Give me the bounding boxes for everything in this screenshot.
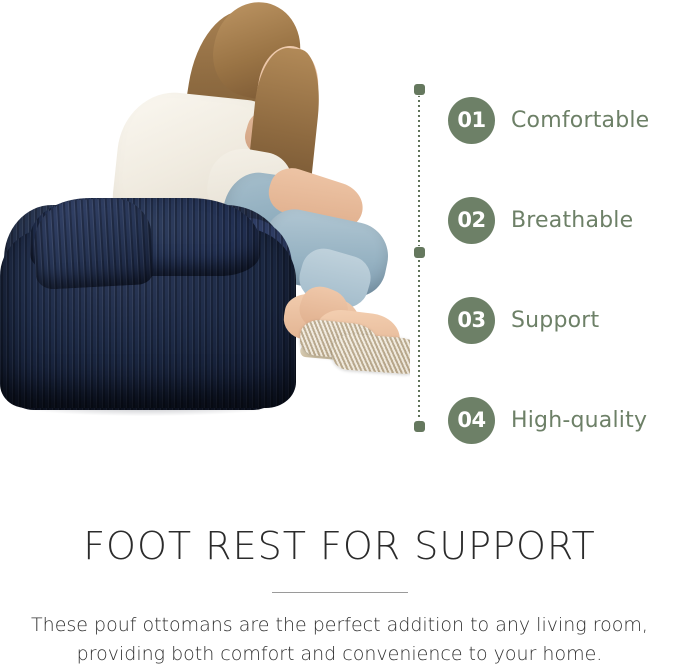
description-line-1: These pouf ottomans are the perfect addi… bbox=[10, 611, 670, 640]
timeline-node-bottom bbox=[414, 421, 425, 432]
feature-number-badge-01: 01 bbox=[448, 97, 495, 144]
timeline-node-top bbox=[414, 84, 425, 95]
feature-label-04: High-quality bbox=[511, 408, 647, 433]
description-paragraph: These pouf ottomans are the perfect addi… bbox=[10, 611, 670, 668]
timeline-dotted-line bbox=[418, 90, 420, 426]
timeline-node-middle bbox=[414, 247, 425, 258]
feature-label-03: Support bbox=[511, 308, 599, 333]
description-line-2: providing both comfort and convenience t… bbox=[10, 640, 670, 669]
slipper-right bbox=[331, 333, 410, 375]
feature-number-badge-03: 03 bbox=[448, 297, 495, 344]
feature-list: 01 Comfortable 02 Breathable 03 Support … bbox=[448, 70, 679, 470]
feature-item-02: 02 Breathable bbox=[448, 170, 679, 270]
timeline-connector bbox=[414, 84, 424, 432]
feature-item-03: 03 Support bbox=[448, 270, 679, 370]
title-divider bbox=[272, 592, 408, 593]
feature-number-badge-02: 02 bbox=[448, 197, 495, 244]
bottom-text-block: FOOT REST FOR SUPPORT These pouf ottoman… bbox=[0, 500, 679, 668]
page-title: FOOT REST FOR SUPPORT bbox=[0, 526, 679, 566]
feature-number-badge-04: 04 bbox=[448, 397, 495, 444]
feature-item-04: 04 High-quality bbox=[448, 370, 679, 470]
pouf-backrest bbox=[32, 196, 154, 290]
feature-item-01: 01 Comfortable bbox=[448, 70, 679, 170]
feature-label-01: Comfortable bbox=[511, 108, 649, 133]
product-photo bbox=[0, 0, 410, 470]
product-feature-banner: 01 Comfortable 02 Breathable 03 Support … bbox=[0, 0, 679, 669]
feature-label-02: Breathable bbox=[511, 208, 633, 233]
